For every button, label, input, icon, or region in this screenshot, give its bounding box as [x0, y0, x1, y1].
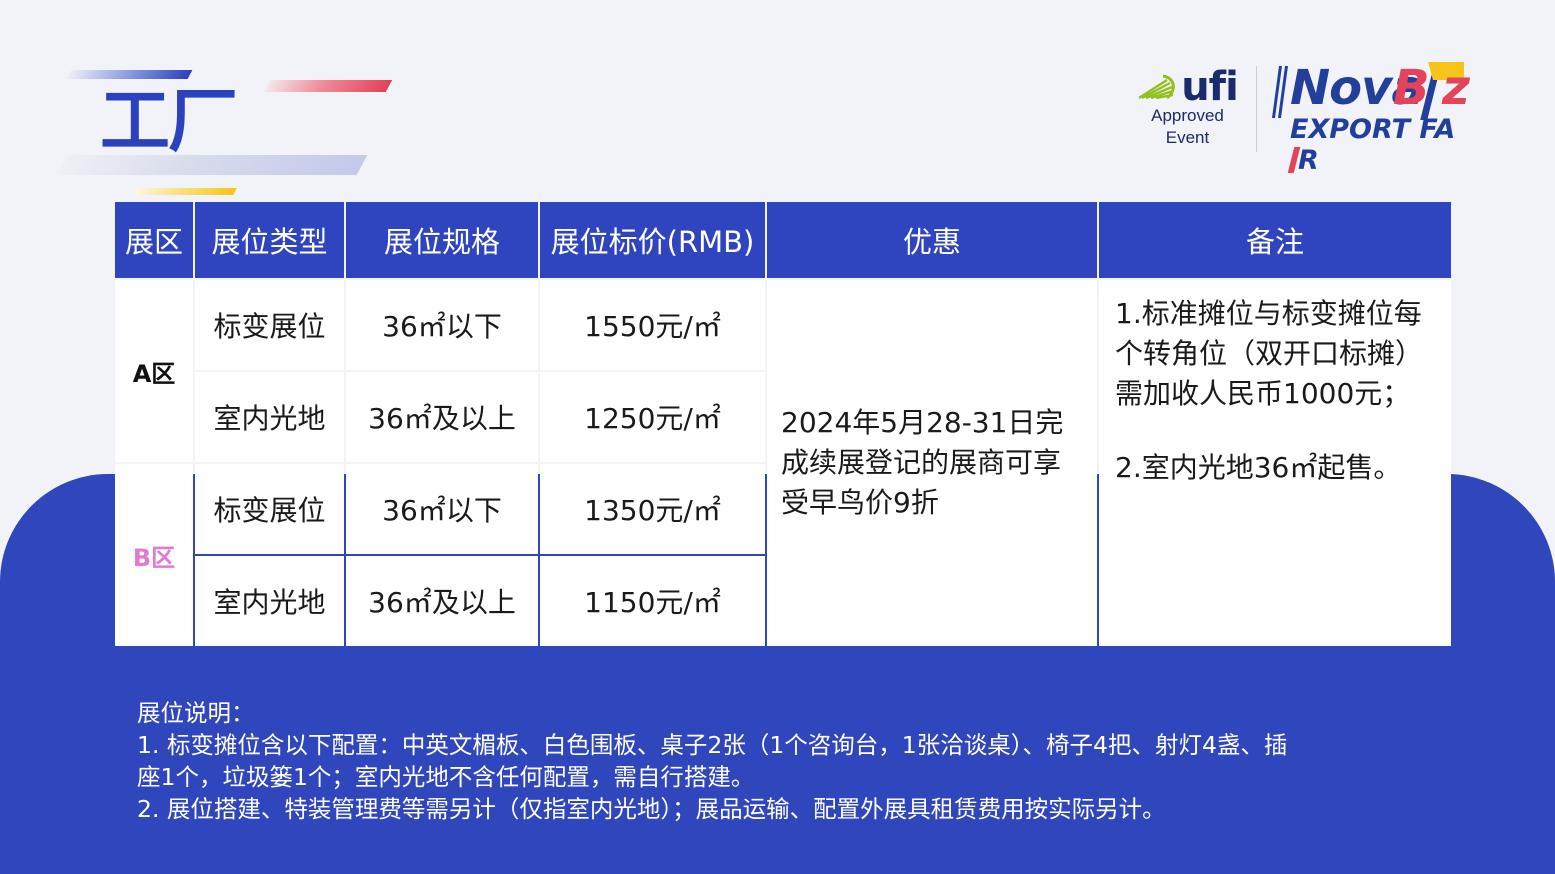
- novabiz-z-text: z: [1442, 60, 1469, 116]
- header-promo: 优惠: [767, 202, 1097, 278]
- cell-price: 1250元/㎡: [540, 372, 765, 462]
- cell-price: 1350元/㎡: [540, 464, 765, 554]
- novabiz-export-fair-logo: Nova B z EXPORT FAR: [1268, 62, 1463, 157]
- cell-spec: 36㎡以下: [346, 280, 538, 370]
- cell-booth-type: 室内光地: [195, 556, 344, 646]
- table-header-row: 展区 展位类型 展位规格 展位标价(RMB) 优惠 备注: [115, 202, 1451, 278]
- cell-price: 1150元/㎡: [540, 556, 765, 646]
- ufi-wordmark: ufi: [1181, 70, 1238, 104]
- header-remark: 备注: [1099, 202, 1451, 278]
- header-price: 展位标价(RMB): [540, 202, 765, 278]
- novabiz-subtitle: EXPORT FAR: [1290, 114, 1463, 176]
- ufi-approved-event-logo: ufi Approved Event: [1130, 64, 1245, 148]
- notes-line-1: 1. 标变摊位含以下配置：中英文楣板、白色围板、桌子2张（1个咨询台，1张洽谈桌…: [137, 729, 1467, 761]
- cell-zone-b: B区: [115, 464, 193, 646]
- factory-logo: 工厂: [60, 45, 460, 165]
- notes-line-3: 2. 展位搭建、特装管理费等需另计（仅指室内光地）；展品运输、配置外展具租赁费用…: [137, 793, 1467, 825]
- booth-notes: 展位说明： 1. 标变摊位含以下配置：中英文楣板、白色围板、桌子2张（1个咨询台…: [137, 697, 1467, 825]
- header-booth-type: 展位类型: [195, 202, 344, 278]
- cell-spec: 36㎡及以上: [346, 556, 538, 646]
- header-zone: 展区: [115, 202, 193, 278]
- header-bar: 工厂 ufi Approved Event: [0, 0, 1555, 180]
- notes-line-2: 座1个，垃圾篓1个；室内光地不含任何配置，需自行搭建。: [137, 761, 1467, 793]
- decor-stripe-red: [264, 80, 392, 92]
- slide-root: 工厂 ufi Approved Event: [0, 0, 1555, 874]
- cell-booth-type: 室内光地: [195, 372, 344, 462]
- header-spec: 展位规格: [346, 202, 538, 278]
- ufi-swoosh-icon: [1137, 74, 1179, 100]
- cell-spec: 36㎡及以上: [346, 372, 538, 462]
- novabiz-subtitle-part1: EXPORT FA: [1290, 114, 1455, 145]
- cell-booth-type: 标变展位: [195, 280, 344, 370]
- remark-line-2: 2.室内光地36㎡起售。: [1115, 451, 1401, 484]
- factory-logo-text: 工厂: [100, 85, 236, 157]
- ufi-event-label: Event: [1130, 128, 1245, 148]
- cell-price: 1550元/㎡: [540, 280, 765, 370]
- cell-spec: 36㎡以下: [346, 464, 538, 554]
- decor-stripe-blue: [66, 70, 193, 79]
- cell-promo: 2024年5月28-31日完成续展登记的展商可享受早鸟价9折: [767, 280, 1097, 646]
- cell-remark: 1.标准摊位与标变摊位每个转角位（双开口标摊）需加收人民币1000元； 2.室内…: [1099, 280, 1451, 646]
- remark-spacer: [1115, 414, 1435, 448]
- decor-stripe-yellow: [133, 188, 237, 195]
- table-row: A区 标变展位 36㎡以下 1550元/㎡ 2024年5月28-31日完成续展登…: [115, 280, 1451, 370]
- notes-title: 展位说明：: [137, 697, 1467, 729]
- cell-booth-type: 标变展位: [195, 464, 344, 554]
- remark-line-1: 1.标准摊位与标变摊位每个转角位（双开口标摊）需加收人民币1000元；: [1115, 297, 1423, 410]
- novabiz-subtitle-part2: R: [1298, 145, 1319, 176]
- cell-zone-a: A区: [115, 280, 193, 462]
- pricing-table: 展区 展位类型 展位规格 展位标价(RMB) 优惠 备注 A区 标变展位 36㎡…: [113, 200, 1453, 648]
- novabiz-bars-icon: [1268, 66, 1288, 118]
- logo-divider: [1256, 66, 1257, 152]
